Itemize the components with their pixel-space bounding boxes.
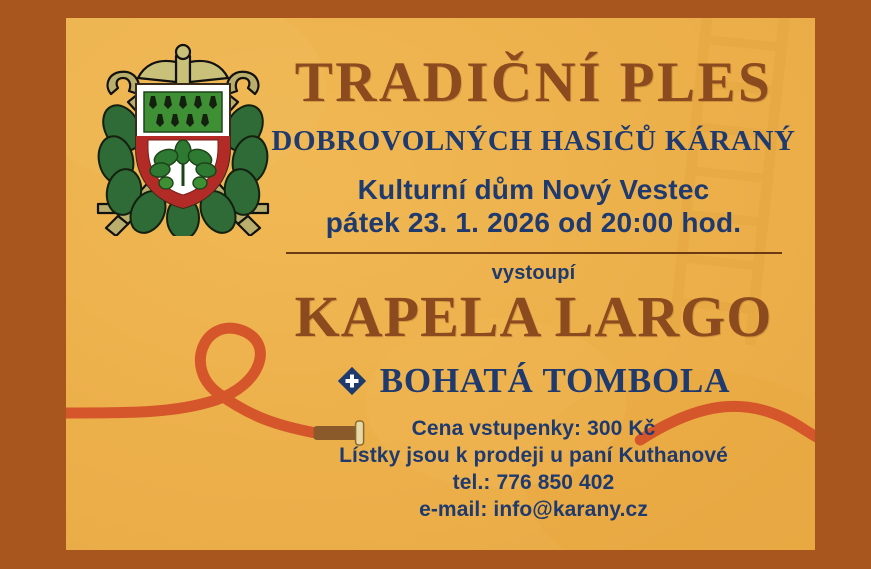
poster-subtitle: DOBROVOLNÝCH HASIČŮ KÁRANÝ	[262, 127, 805, 156]
karany-fire-brigade-coat-of-arms	[78, 36, 288, 236]
venue-name: Kulturní dům Nový Vestec	[262, 173, 805, 206]
perform-label: vystoupí	[262, 262, 805, 285]
contact-block: Cena vstupenky: 300 Kč Lístky jsou k pro…	[262, 416, 805, 524]
ticket-seller: Lístky jsou k prodeji u paní Kuthanové	[262, 443, 805, 470]
band-name: KAPELA LARGO	[262, 288, 805, 346]
tombola-row: BOHATÁ TOMBOLA	[262, 363, 805, 398]
firefighter-cross-diamond-icon	[337, 366, 367, 396]
page-title: TRADIČNÍ PLES	[262, 54, 805, 111]
poster: TRADIČNÍ PLES DOBROVOLNÝCH HASIČŮ KÁRANÝ…	[0, 0, 871, 569]
tombola-label: BOHATÁ TOMBOLA	[380, 363, 731, 398]
venue-block: Kulturní dům Nový Vestec pátek 23. 1. 20…	[262, 173, 805, 239]
ticket-price: Cena vstupenky: 300 Kč	[262, 416, 805, 443]
contact-phone: tel.: 776 850 402	[262, 470, 805, 497]
poster-content: TRADIČNÍ PLES DOBROVOLNÝCH HASIČŮ KÁRANÝ…	[262, 18, 805, 550]
poster-inner-panel: TRADIČNÍ PLES DOBROVOLNÝCH HASIČŮ KÁRANÝ…	[66, 18, 815, 550]
event-datetime: pátek 23. 1. 2026 od 20:00 hod.	[262, 206, 805, 239]
divider	[286, 252, 782, 254]
contact-email: e-mail: info@karany.cz	[262, 497, 805, 524]
